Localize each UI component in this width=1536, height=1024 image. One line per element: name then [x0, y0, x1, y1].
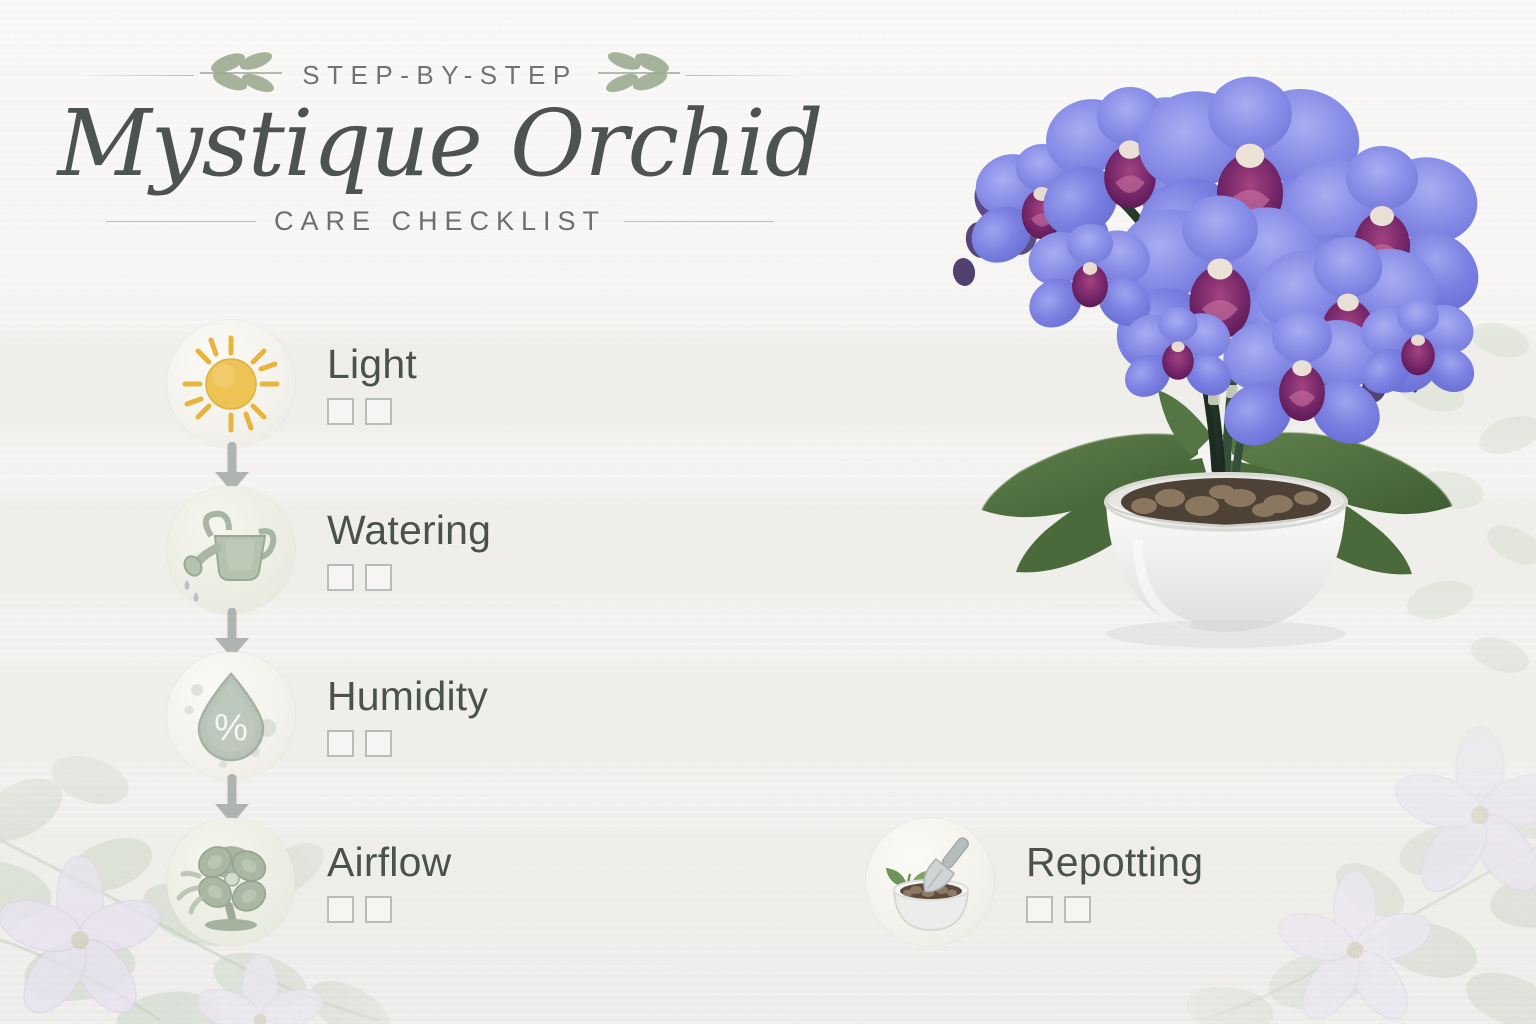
repotting-icon-badge — [866, 818, 994, 946]
orchid-illustration — [930, 40, 1510, 680]
light-checkbox-group[interactable] — [327, 398, 417, 425]
eyebrow-rule-left — [74, 75, 194, 76]
checkbox[interactable] — [327, 730, 354, 757]
fan-icon — [167, 818, 295, 946]
checkbox[interactable] — [365, 896, 392, 923]
repotting-icon — [866, 818, 994, 946]
checkbox[interactable] — [365, 398, 392, 425]
page-title: Mystique Orchid — [0, 96, 880, 192]
watering-can-icon — [167, 486, 295, 614]
checkbox[interactable] — [1064, 896, 1091, 923]
subtitle-text: CARE CHECKLIST — [256, 206, 624, 237]
watering-labels: Watering — [327, 510, 491, 591]
checklist-item-repotting[interactable]: Repotting — [866, 818, 1203, 946]
step-label: Watering — [327, 510, 491, 551]
checklist-item-airflow[interactable]: Airflow — [167, 818, 451, 946]
subtitle-row: CARE CHECKLIST — [0, 206, 880, 237]
sun-icon — [167, 320, 295, 448]
step-label: Repotting — [1026, 842, 1203, 883]
checklist-item-watering[interactable]: Watering — [167, 486, 491, 614]
airflow-icon-badge — [167, 818, 295, 946]
care-checklist-poster: STEP-BY-STEP Mystique Orchid — [0, 0, 1536, 1024]
checkbox[interactable] — [365, 730, 392, 757]
step-label: Light — [327, 344, 417, 385]
checklist-item-light[interactable]: Light — [167, 320, 417, 448]
humidity-labels: Humidity — [327, 676, 488, 757]
checkbox[interactable] — [327, 564, 354, 591]
humidity-drop-icon: % — [167, 652, 295, 780]
airflow-checkbox-group[interactable] — [327, 896, 451, 923]
humidity-icon-badge: % — [167, 652, 295, 780]
subtitle-rule-left — [106, 221, 256, 222]
airflow-labels: Airflow — [327, 842, 451, 923]
eyebrow-rule-right — [686, 75, 806, 76]
checkbox[interactable] — [365, 564, 392, 591]
checkbox[interactable] — [327, 398, 354, 425]
checkbox[interactable] — [1026, 896, 1053, 923]
watering-icon-badge — [167, 486, 295, 614]
step-label: Humidity — [327, 676, 488, 717]
subtitle-rule-right — [624, 221, 774, 222]
checklist-item-humidity[interactable]: % Humidity — [167, 652, 488, 780]
light-labels: Light — [327, 344, 417, 425]
repotting-labels: Repotting — [1026, 842, 1203, 923]
watering-checkbox-group[interactable] — [327, 564, 491, 591]
eyebrow-text: STEP-BY-STEP — [286, 60, 593, 91]
repotting-checkbox-group[interactable] — [1026, 896, 1203, 923]
light-icon-badge — [167, 320, 295, 448]
checkbox[interactable] — [327, 896, 354, 923]
orchid-pot — [1104, 472, 1348, 648]
humidity-checkbox-group[interactable] — [327, 730, 488, 757]
poster-header: STEP-BY-STEP Mystique Orchid — [0, 52, 880, 237]
step-label: Airflow — [327, 842, 451, 883]
humidity-percent-symbol: % — [214, 707, 248, 749]
